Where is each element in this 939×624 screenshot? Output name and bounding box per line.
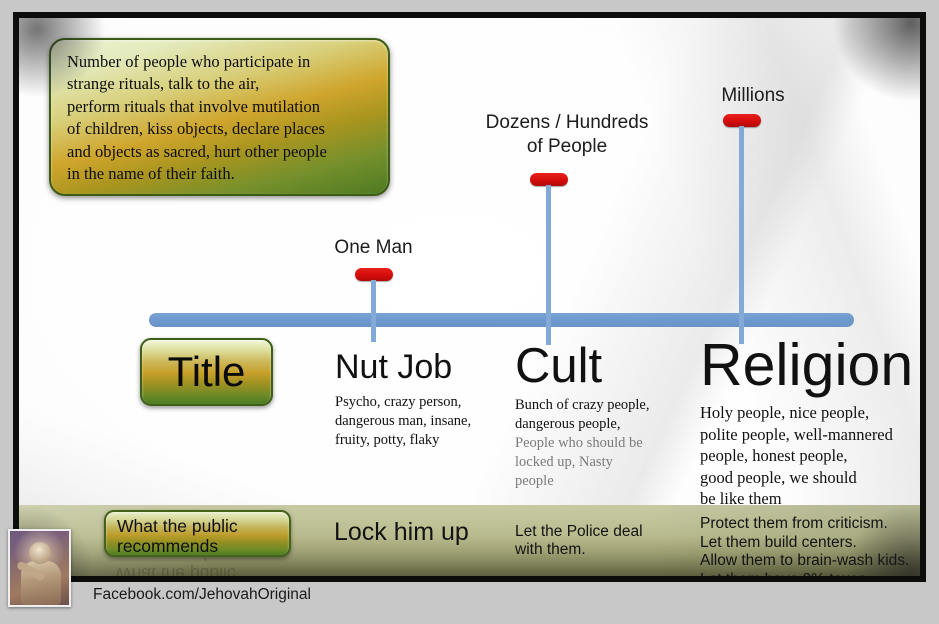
column-heading-nut-job: Nut Job (335, 350, 517, 384)
timeline-stem-millions (739, 126, 744, 344)
column-cult: Cult Bunch of crazy people, dangerous pe… (515, 342, 701, 491)
public-recommends-label: What the public recommends (117, 516, 289, 556)
recommendation-nut-job: Lock him up (334, 518, 469, 546)
column-description-nut-job: Psycho, crazy person, dangerous man, ins… (335, 393, 517, 450)
avatar-figure-head (29, 542, 51, 564)
column-description-muted-cult: People who should be locked up, Nasty pe… (515, 434, 701, 491)
grunge-frame: Number of people who participate in stra… (13, 12, 926, 582)
column-heading-cult: Cult (515, 342, 701, 391)
column-heading-religion: Religion (700, 336, 915, 395)
column-description-religion: Holy people, nice people, polite people,… (700, 402, 915, 510)
timeline-label-one-man: One Man (306, 236, 441, 260)
column-religion: Religion Holy people, nice people, polit… (700, 336, 915, 510)
timeline-label-dozens-hundreds: Dozens / Hundreds of People (454, 111, 680, 159)
infographic-canvas: Number of people who participate in stra… (0, 0, 939, 624)
column-nut-job: Nut Job Psycho, crazy person, dangerous … (335, 350, 517, 450)
callout-box: Number of people who participate in stra… (49, 38, 390, 196)
title-badge-label: Title (168, 351, 246, 393)
recommendation-religion: Protect them from criticism. Let them bu… (700, 515, 920, 576)
timeline-label-millions: Millions (673, 84, 833, 108)
public-recommends-badge: What the public recommends (104, 510, 291, 557)
title-badge: Title (140, 338, 273, 406)
page-avatar-thumbnail (8, 529, 71, 607)
callout-text: Number of people who participate in stra… (67, 51, 374, 185)
column-description-cult: Bunch of crazy people, dangerous people, (515, 396, 701, 434)
timeline-bar (149, 313, 854, 327)
content-layer: Number of people who participate in stra… (19, 18, 920, 576)
footer-url: Facebook.com/JehovahOriginal (93, 586, 311, 604)
recommendation-cult: Let the Police deal with them. (515, 523, 643, 559)
timeline-stem-one-man (371, 280, 376, 342)
timeline-stem-dozens-hundreds (546, 185, 551, 345)
paper-background: Number of people who participate in stra… (19, 18, 920, 576)
